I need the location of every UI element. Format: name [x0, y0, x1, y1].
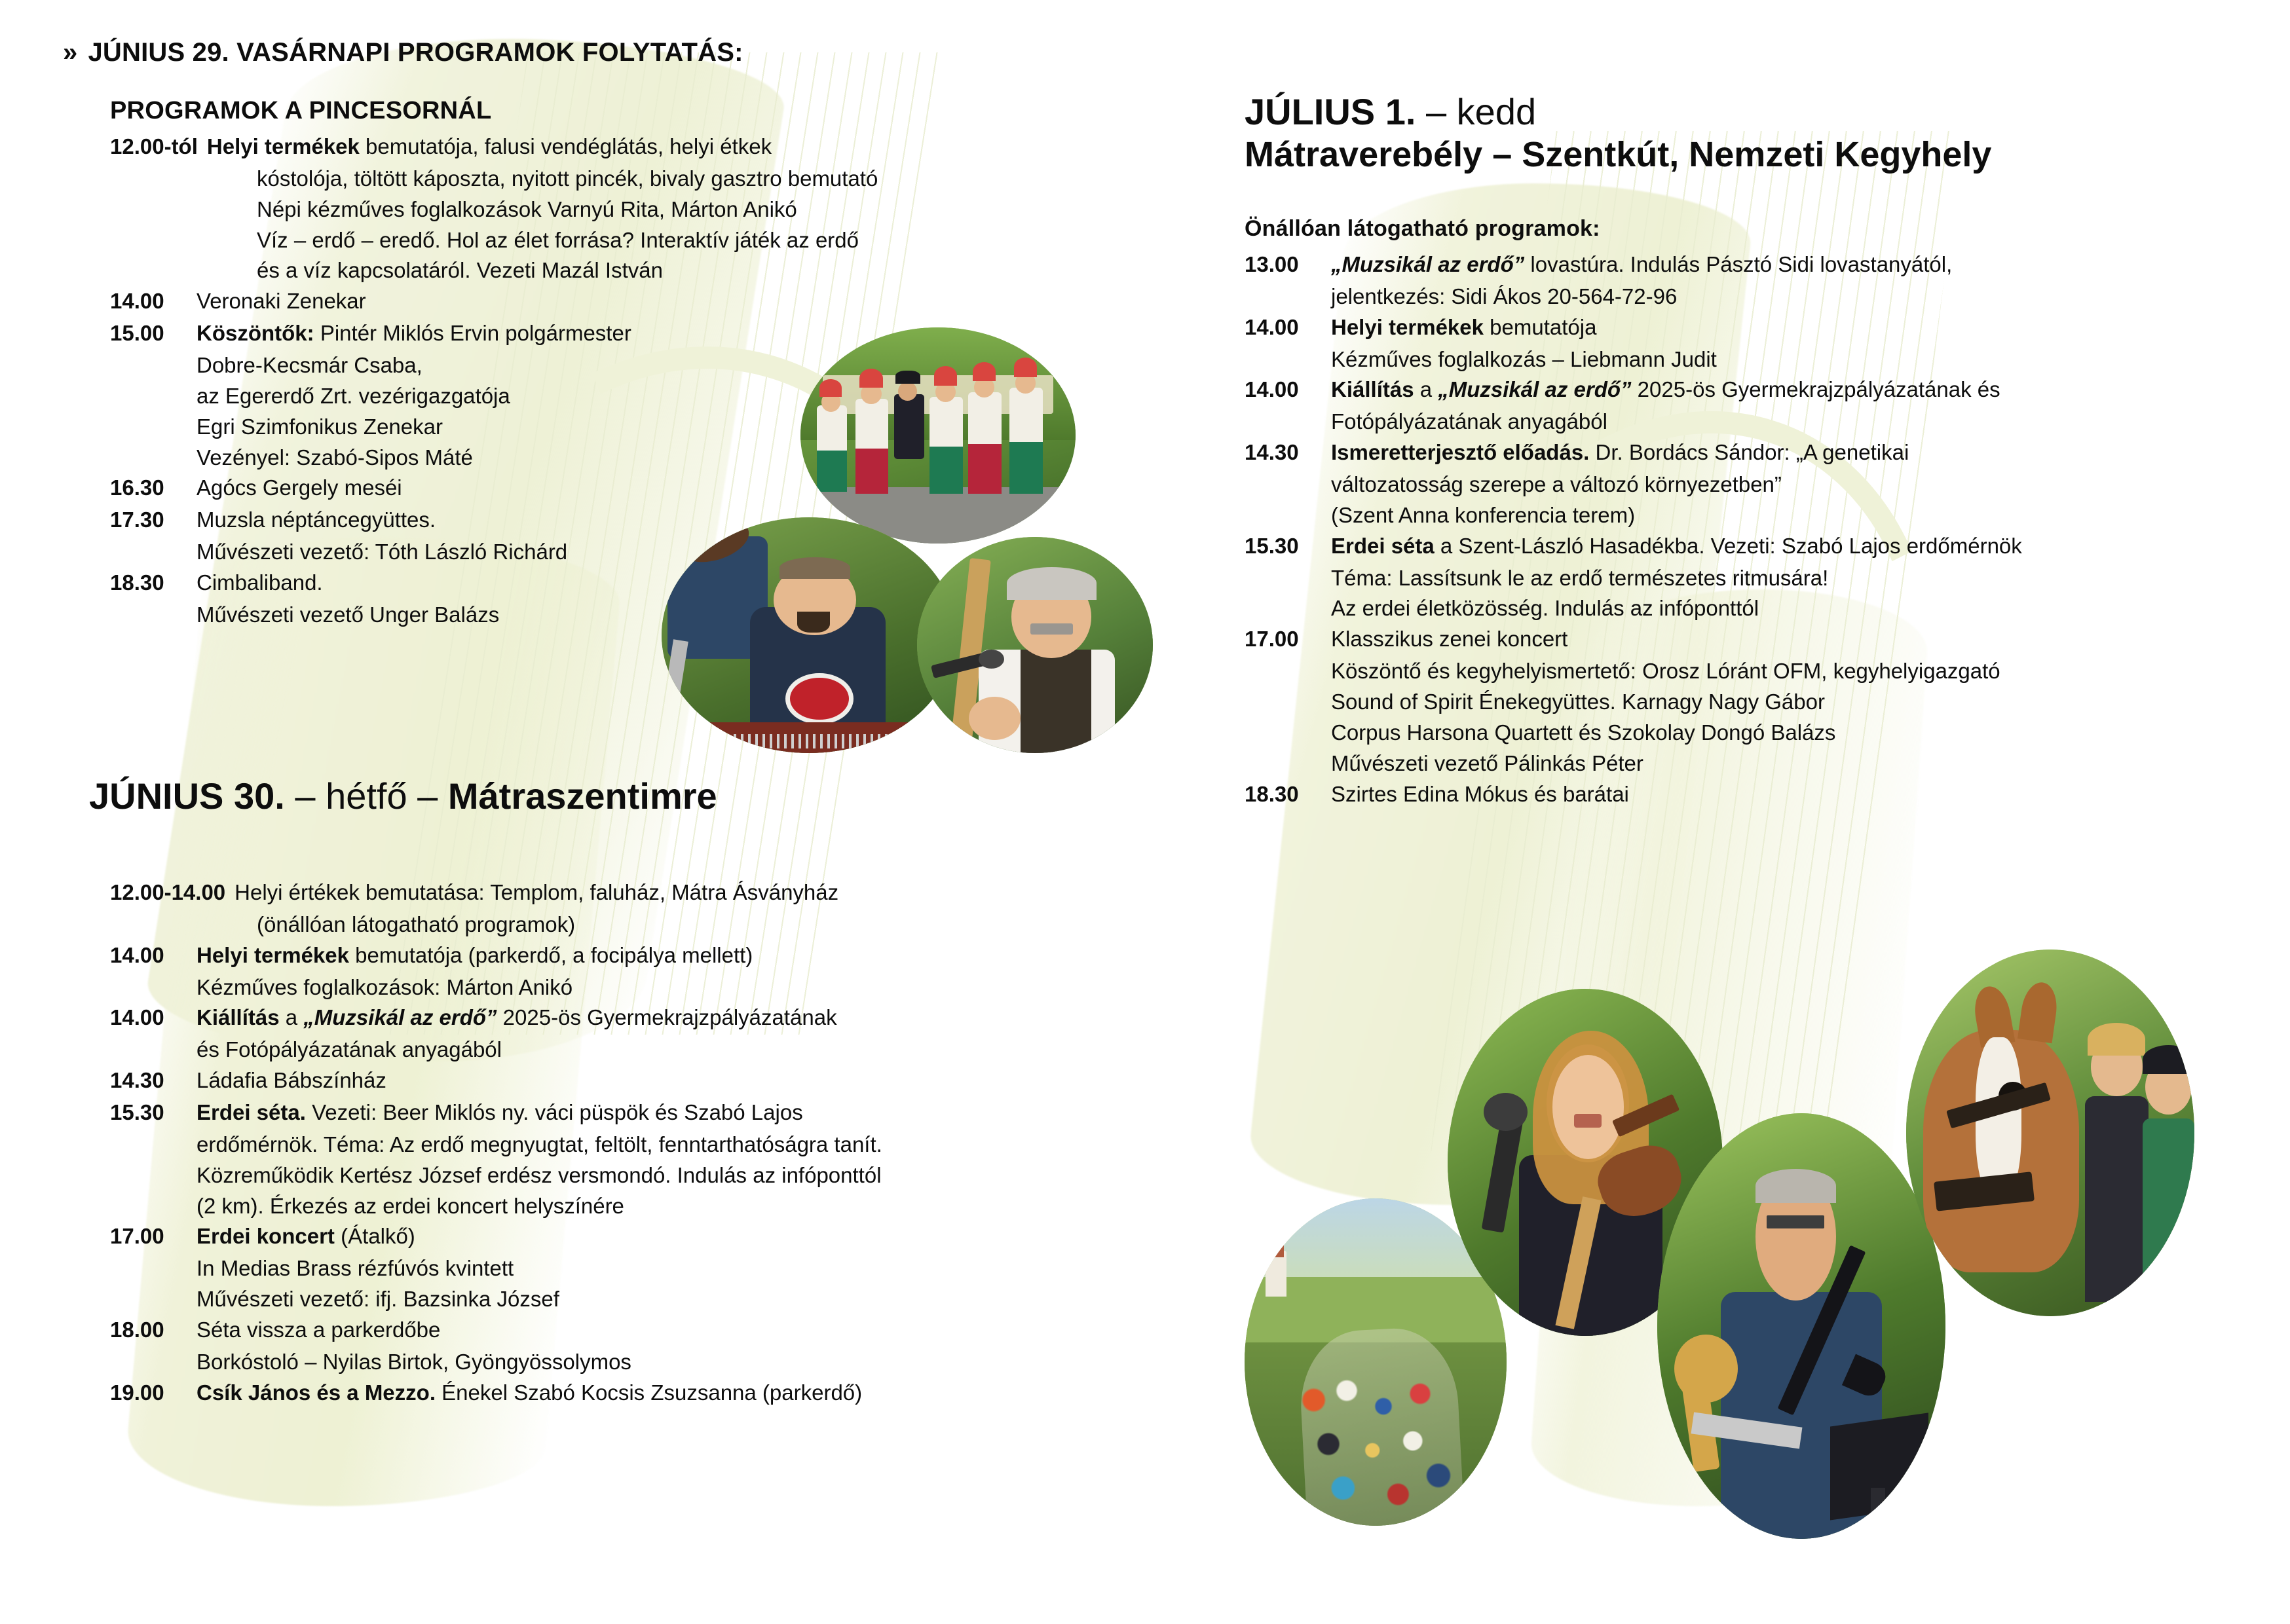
- day-place: Mátraverebély – Szentkút, Nemzeti Kegyhe…: [1245, 134, 2227, 175]
- program-continuation: (Szent Anna konferencia terem): [1331, 500, 2227, 531]
- program-item-1400-b: 14.00 Kiállítás a „Muzsikál az erdő” 202…: [1245, 375, 2227, 405]
- program-detail: (Átalkő): [335, 1224, 415, 1248]
- day-block-junius-30: JÚNIUS 30. – hétfő – Mátraszentimre: [89, 776, 1137, 817]
- day-title: JÚLIUS 1. – kedd: [1245, 92, 2227, 133]
- day-place: Mátraszentimre: [448, 775, 717, 817]
- junius-30-program-list: 12.00-14.00 Helyi értékek bemutatása: Te…: [110, 877, 1158, 1410]
- program-detail: lovastúra. Indulás Pásztó Sidi lovastany…: [1524, 252, 1952, 276]
- program-time: 14.30: [1245, 437, 1331, 468]
- program-description: Helyi termékek bemutatója: [1331, 312, 2227, 343]
- program-time: 15.30: [110, 1098, 197, 1128]
- program-continuation: Téma: Lassítsunk le az erdő természetes …: [1331, 563, 2227, 594]
- program-detail: 2025-ös Gyermekrajzpályázatának: [497, 1005, 837, 1029]
- program-continuation: Közreműködik Kertész József erdész versm…: [197, 1160, 1158, 1191]
- program-time: 16.30: [110, 473, 197, 504]
- program-detail: a: [280, 1005, 304, 1029]
- program-title: Köszöntők:: [197, 321, 314, 345]
- program-item-1400-b: 14.00 Kiállítás a „Muzsikál az erdő” 202…: [110, 1003, 1158, 1033]
- program-title: Ládafia Bábszínház: [197, 1065, 1158, 1096]
- program-item-1830: 18.30 Szirtes Edina Mókus és barátai: [1245, 779, 2227, 810]
- program-time: 14.00: [110, 940, 197, 971]
- program-title: Ismeretterjesztő előadás.: [1331, 440, 1589, 464]
- program-description: Helyi termékek bemutatója (parkerdő, a f…: [197, 940, 1158, 971]
- program-title: Erdei koncert: [197, 1224, 335, 1248]
- program-continuation: (önállóan látogatható programok): [257, 910, 1158, 940]
- program-title: Klasszikus zenei koncert: [1331, 624, 2227, 655]
- program-page: »JÚNIUS 29. VASÁRNAPI PROGRAMOK FOLYTATÁ…: [0, 0, 2290, 1624]
- exhibition-name: „Muzsikál az erdő”: [303, 1005, 497, 1029]
- program-description: Csík János és a Mezzo. Énekel Szabó Kocs…: [197, 1378, 1158, 1409]
- workshop-name: Kézműves foglalkozás: [1331, 347, 1546, 371]
- program-title: Helyi termékek: [197, 943, 349, 967]
- program-detail: rézfúvós kvintett: [352, 1256, 514, 1280]
- program-description: Erdei séta a Szent-László Hasadékba. Vez…: [1331, 531, 2227, 562]
- exhibition-name: „Muzsikál az erdő”: [1438, 377, 1631, 401]
- program-continuation: Sound of Spirit Énekegyüttes. Karnagy Na…: [1331, 687, 2227, 718]
- program-detail: Helyi értékek bemutatása: Templom, faluh…: [235, 877, 1158, 908]
- program-time: 12.00-tól: [110, 132, 207, 162]
- program-item-1430: 14.30 Ládafia Bábszínház: [110, 1065, 1158, 1096]
- program-time: 13.00: [1245, 249, 1331, 280]
- program-detail: a Szent-László Hasadékba. Vezeti: Szabó …: [1435, 534, 2022, 558]
- program-time: 12.00-14.00: [110, 877, 235, 908]
- program-item-1200-1400: 12.00-14.00 Helyi értékek bemutatása: Te…: [110, 877, 1158, 908]
- program-subtitle: Népi kézműves foglalkozások: [257, 197, 542, 221]
- program-item-1200: 12.00-tól Helyi termékek bemutatója, fal…: [110, 132, 1132, 162]
- ensemble-name: Corpus Harsona Quartett és Szokolay Dong…: [1331, 718, 2227, 748]
- program-item-1800: 18.00 Séta vissza a parkerdőbe: [110, 1315, 1158, 1346]
- program-item-1530: 15.30 Erdei séta. Vezeti: Beer Miklós ny…: [110, 1098, 1158, 1128]
- program-detail: Varnyú Rita, Márton Anikó: [542, 197, 797, 221]
- day-weekday: kedd: [1457, 91, 1536, 132]
- program-time: 18.30: [1245, 779, 1331, 810]
- program-continuation: kóstolója, töltött káposzta, nyitott pin…: [257, 164, 1132, 194]
- tour-name: „Muzsikál az erdő”: [1331, 252, 1524, 276]
- program-continuation: változatosság szerepe a változó környeze…: [1331, 470, 2227, 500]
- program-detail: bemutatója: [1484, 315, 1596, 339]
- program-title: Szirtes Edina Mókus és barátai: [1331, 779, 2227, 810]
- section-header-text: JÚNIUS 29. VASÁRNAPI PROGRAMOK FOLYTATÁS…: [88, 38, 743, 67]
- program-continuation: Kézműves foglalkozások: Márton Anikó: [197, 972, 1158, 1003]
- program-continuation: (2 km). Érkezés az erdei koncert helyszí…: [197, 1191, 1158, 1222]
- program-item-1700: 17.00 Erdei koncert (Átalkő): [110, 1221, 1158, 1252]
- program-title: Veronaki Zenekar: [197, 286, 1132, 317]
- program-detail: bemutatója (parkerdő, a focipálya mellet…: [349, 943, 753, 967]
- program-item-1700: 17.00 Klasszikus zenei koncert: [1245, 624, 2227, 655]
- subhead-onallo: Önállóan látogatható programok:: [1245, 216, 2227, 242]
- program-subtitle: Víz – erdő – eredő. Hol az élet forrása?: [257, 228, 634, 252]
- program-continuation: és Fotópályázatának anyagából: [197, 1035, 1158, 1065]
- program-detail: a: [1414, 377, 1438, 401]
- double-chevron-icon: »: [63, 38, 77, 67]
- program-time: 17.00: [1245, 624, 1331, 655]
- program-title: Csík János és a Mezzo.: [197, 1380, 436, 1405]
- program-time: 17.00: [110, 1221, 197, 1252]
- program-continuation: Művészeti vezető: ifj. Bazsinka József: [197, 1284, 1158, 1315]
- day-title: JÚNIUS 30. – hétfő – Mátraszentimre: [89, 776, 1137, 817]
- program-item-1400-a: 14.00 Helyi termékek bemutatója: [1245, 312, 2227, 343]
- program-time: 18.00: [110, 1315, 197, 1346]
- program-description: Helyi termékek bemutatója, falusi vendég…: [207, 132, 1132, 162]
- program-title: Helyi termékek: [1331, 315, 1484, 339]
- day-dash: –: [285, 775, 326, 817]
- photo-cimbalom-player: Cimbalmos zenész mikrofonnál: [662, 517, 956, 753]
- venue-header: PROGRAMOK A PINCESORNÁL: [110, 97, 1132, 125]
- program-item-1530: 15.30 Erdei séta a Szent-László Hasadékb…: [1245, 531, 2227, 562]
- program-continuation: jelentkezés: Sidi Ákos 20-564-72-96: [1331, 282, 2227, 312]
- program-time: 14.30: [110, 1065, 197, 1096]
- program-continuation: Kézműves foglalkozás – Liebmann Judit: [1331, 344, 2227, 375]
- program-time: 14.00: [1245, 312, 1331, 343]
- program-title: Erdei séta: [1331, 534, 1435, 558]
- program-time: 15.30: [1245, 531, 1331, 562]
- program-description: Kiállítás a „Muzsikál az erdő” 2025-ös G…: [1331, 375, 2227, 405]
- program-description: Kiállítás a „Muzsikál az erdő” 2025-ös G…: [197, 1003, 1158, 1033]
- program-description: „Muzsikál az erdő” lovastúra. Indulás Pá…: [1331, 249, 2227, 280]
- program-item-1400-a: 14.00 Helyi termékek bemutatója (parkerd…: [110, 940, 1158, 971]
- program-detail: Pintér Miklós Ervin polgármester: [314, 321, 631, 345]
- program-description: Erdei séta. Vezeti: Beer Miklós ny. váci…: [197, 1098, 1158, 1128]
- program-detail: Dr. Bordács Sándor: „A genetikai: [1589, 440, 1909, 464]
- day-dash: –: [407, 775, 448, 817]
- program-title: Kiállítás: [197, 1005, 280, 1029]
- program-continuation: Az erdei életközösség. Indulás az infópo…: [1331, 593, 2227, 624]
- day-date: JÚNIUS 30.: [89, 775, 285, 817]
- program-list: 12.00-14.00 Helyi értékek bemutatása: Te…: [110, 877, 1158, 1409]
- program-item-1300: 13.00 „Muzsikál az erdő” lovastúra. Indu…: [1245, 249, 2227, 280]
- program-continuation: Művészeti vezető Pálinkás Péter: [1331, 748, 2227, 779]
- photo-horse-children: Ló és gyerekek a lovastúrán: [1906, 950, 2194, 1316]
- program-detail: 2025-ös Gyermekrajzpályázatának és: [1632, 377, 2000, 401]
- program-title: Helyi termékek: [207, 134, 360, 158]
- program-detail: – Liebmann Judit: [1546, 347, 1717, 371]
- program-time: 14.00: [1245, 375, 1331, 405]
- program-continuation: In Medias Brass rézfúvós kvintett: [197, 1253, 1158, 1284]
- ensemble-name: Sound of Spirit Énekegyüttes.: [1331, 690, 1616, 714]
- day-dash: –: [1416, 91, 1456, 132]
- ensemble-name: In Medias Brass: [197, 1256, 352, 1280]
- program-detail: Vezeti: Beer Miklós ny. váci püspök és S…: [306, 1100, 803, 1124]
- program-time: 17.30: [110, 505, 197, 536]
- program-list: 13.00 „Muzsikál az erdő” lovastúra. Indu…: [1245, 249, 2227, 809]
- program-description: Ismeretterjesztő előadás. Dr. Bordács Sá…: [1331, 437, 2227, 468]
- program-item-1400: 14.00 Veronaki Zenekar: [110, 286, 1132, 317]
- program-time: 15.00: [110, 318, 197, 349]
- program-detail: bemutatója, falusi vendéglátás, helyi ét…: [360, 134, 772, 158]
- day-date: JÚLIUS 1.: [1245, 91, 1416, 132]
- program-continuation: erdőmérnök. Téma: Az erdő megnyugtat, fe…: [197, 1130, 1158, 1160]
- program-time: 14.00: [110, 1003, 197, 1033]
- program-time: 14.00: [110, 286, 197, 317]
- photo-folk-dancers: Néptáncosok népviseletben a színpadon: [800, 327, 1076, 544]
- section-header: »JÚNIUS 29. VASÁRNAPI PROGRAMOK FOLYTATÁ…: [63, 38, 743, 67]
- program-description: Erdei koncert (Átalkő): [197, 1221, 1158, 1252]
- program-title: Erdei séta.: [197, 1100, 306, 1124]
- program-detail: Séta vissza a parkerdőbe: [197, 1315, 1158, 1346]
- program-time: 19.00: [110, 1378, 197, 1409]
- day-weekday: hétfő: [326, 775, 407, 817]
- photo-clarinet-player: Klarinétos zenész kottaállvány mellett: [1657, 1113, 1945, 1539]
- program-continuation: Népi kézműves foglalkozások Varnyú Rita,…: [257, 194, 1132, 225]
- program-continuation: és a víz kapcsolatáról. Vezeti Mazál Ist…: [257, 255, 1132, 286]
- program-title: Kiállítás: [1331, 377, 1414, 401]
- program-continuation: Borkóstoló – Nyilas Birtok, Gyöngyössoly…: [197, 1347, 1158, 1378]
- program-continuation: Víz – erdő – eredő. Hol az élet forrása?…: [257, 225, 1132, 256]
- program-detail: Interaktív játék az erdő: [634, 228, 859, 252]
- program-item-1900: 19.00 Csík János és a Mezzo. Énekel Szab…: [110, 1378, 1158, 1409]
- program-continuation: Köszöntő és kegyhelyismertető: Orosz Lór…: [1331, 656, 2227, 687]
- photo-singer-man: Énekes férfi népviseletben botot tartva: [917, 537, 1153, 753]
- program-detail: Karnagy Nagy Gábor: [1616, 690, 1825, 714]
- program-continuation: Fotópályázatának anyagából: [1331, 407, 2227, 437]
- program-detail: Énekel Szabó Kocsis Zsuzsanna (parkerdő): [436, 1380, 862, 1405]
- julius-1-program-block: Önállóan látogatható programok: 13.00 „M…: [1245, 216, 2227, 811]
- day-block-julius-1: JÚLIUS 1. – kedd Mátraverebély – Szentkú…: [1245, 92, 2227, 175]
- program-item-1430: 14.30 Ismeretterjesztő előadás. Dr. Bord…: [1245, 437, 2227, 468]
- program-time: 18.30: [110, 568, 197, 599]
